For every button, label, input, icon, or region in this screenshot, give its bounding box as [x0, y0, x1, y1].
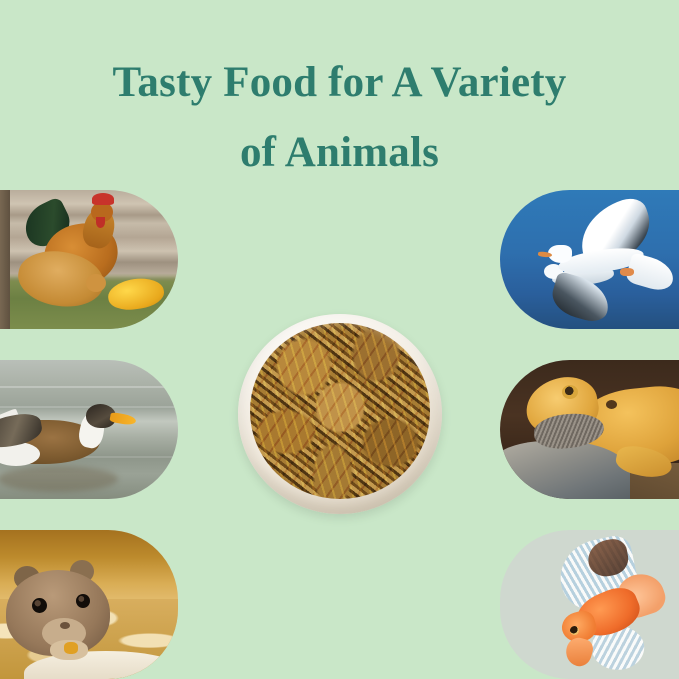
hamster-scene	[0, 530, 178, 679]
photo-bearded-dragon	[500, 360, 679, 499]
dragon-eye	[562, 385, 578, 399]
seagull-scene	[500, 190, 679, 329]
hen-head	[86, 274, 106, 292]
photo-hamster	[0, 530, 178, 679]
duck-bill	[109, 412, 136, 426]
page-title-line-2: of Animals	[0, 118, 679, 188]
photo-duck	[0, 360, 178, 499]
hamster-right-eye	[76, 594, 90, 608]
duck-scene	[0, 360, 178, 499]
page-title-line-1: Tasty Food for A Variety	[0, 48, 679, 118]
bowl-rim	[238, 314, 442, 514]
duck-reflection	[0, 466, 118, 492]
fish-pelvic-fin	[563, 635, 596, 669]
hamster-nose	[60, 622, 70, 629]
water-ripple	[0, 386, 178, 388]
dragon-ear	[606, 400, 617, 409]
photo-betta-fish	[500, 530, 679, 679]
betta-fish-scene	[500, 530, 679, 679]
food-seed	[64, 642, 78, 654]
fish-eye	[570, 626, 579, 635]
bearded-dragon-scene	[500, 360, 679, 499]
rooster-comb	[92, 193, 114, 205]
photo-seagulls	[500, 190, 679, 329]
product-poster: Tasty Food for A Variety of Animals	[0, 0, 679, 679]
rooster-wattle	[96, 217, 105, 228]
wooden-post	[0, 190, 10, 329]
page-title: Tasty Food for A Variety of Animals	[0, 48, 679, 187]
seagull-beak	[538, 251, 552, 257]
photo-chickens	[0, 190, 178, 329]
mealworm-bowl	[238, 314, 442, 514]
yellow-gourd	[106, 275, 166, 313]
seagull-feet	[620, 268, 634, 276]
hamster-left-eye	[32, 598, 47, 613]
chicken-scene	[0, 190, 178, 329]
